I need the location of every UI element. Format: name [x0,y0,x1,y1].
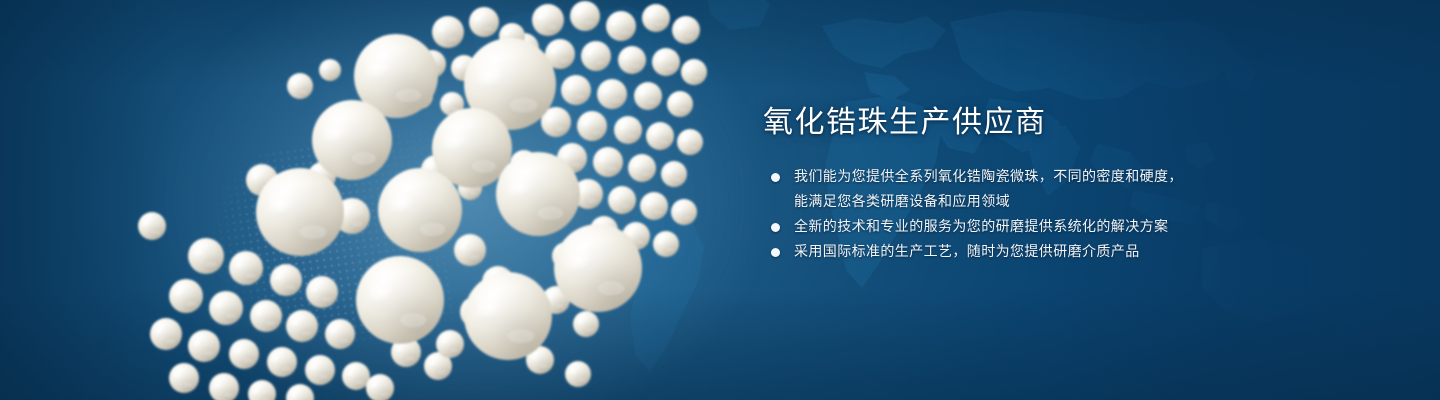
banner-content: 氧化锆珠生产供应商 我们能为您提供全系列氧化锆陶瓷微珠，不同的密度和硬度， 能满… [763,104,1323,264]
bullet-line-primary: 采用国际标准的生产工艺，随时为您提供研磨介质产品 [794,243,1140,259]
product-hero-banner: 氧化锆珠生产供应商 我们能为您提供全系列氧化锆陶瓷微珠，不同的密度和硬度， 能满… [0,0,1440,400]
feature-bullet-list: 我们能为您提供全系列氧化锆陶瓷微珠，不同的密度和硬度， 能满足您各类研磨设备和应… [763,164,1323,264]
bullet-line-secondary: 能满足您各类研磨设备和应用领域 [794,189,1323,214]
bullet-dot-icon [771,173,780,182]
list-item: 我们能为您提供全系列氧化锆陶瓷微珠，不同的密度和硬度， 能满足您各类研磨设备和应… [763,164,1323,214]
list-item: 全新的技术和专业的服务为您的研磨提供系统化的解决方案 [763,214,1323,239]
bullet-line-primary: 我们能为您提供全系列氧化锆陶瓷微珠，不同的密度和硬度， [794,168,1183,184]
zirconia-ceramic-beads-photo [0,0,740,400]
bullet-line-primary: 全新的技术和专业的服务为您的研磨提供系统化的解决方案 [794,218,1168,234]
bullet-dot-icon [771,248,780,257]
list-item: 采用国际标准的生产工艺，随时为您提供研磨介质产品 [763,239,1323,264]
page-title: 氧化锆珠生产供应商 [763,104,1323,142]
bullet-dot-icon [771,223,780,232]
